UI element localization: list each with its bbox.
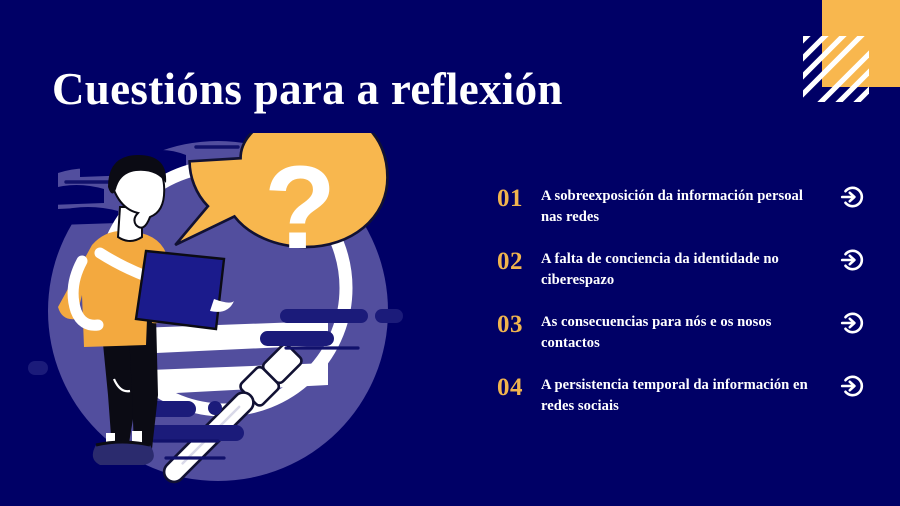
arrow-into-circle-icon[interactable] xyxy=(839,310,865,336)
hero-illustration: ? xyxy=(28,133,418,489)
reflection-question-list: 01 A sobreexposición da información pers… xyxy=(497,186,865,438)
arrow-into-circle-icon[interactable] xyxy=(839,247,865,273)
list-item-number: 01 xyxy=(497,186,541,212)
list-item[interactable]: 03 As consecuencias para nós e os nosos … xyxy=(497,312,865,375)
list-item-number: 04 xyxy=(497,375,541,401)
list-item[interactable]: 04 A persistencia temporal da informació… xyxy=(497,375,865,438)
diagonal-hatch-pattern xyxy=(803,36,869,102)
list-item-label: As consecuencias para nós e os nosos con… xyxy=(541,312,839,354)
list-item-number: 02 xyxy=(497,249,541,275)
list-item-label: A sobreexposición da información persoal… xyxy=(541,186,839,228)
slide-canvas: Cuestións para a reflexión xyxy=(0,0,900,506)
list-item-number: 03 xyxy=(497,312,541,338)
list-item[interactable]: 01 A sobreexposición da información pers… xyxy=(497,186,865,249)
question-mark-glyph: ? xyxy=(264,142,336,274)
arrow-into-circle-icon[interactable] xyxy=(839,184,865,210)
list-item-label: A falta de conciencia da identidade no c… xyxy=(541,249,839,291)
list-item[interactable]: 02 A falta de conciencia da identidade n… xyxy=(497,249,865,312)
page-title: Cuestións para a reflexión xyxy=(52,63,563,115)
arrow-into-circle-icon[interactable] xyxy=(839,373,865,399)
list-item-label: A persistencia temporal da información e… xyxy=(541,375,839,417)
